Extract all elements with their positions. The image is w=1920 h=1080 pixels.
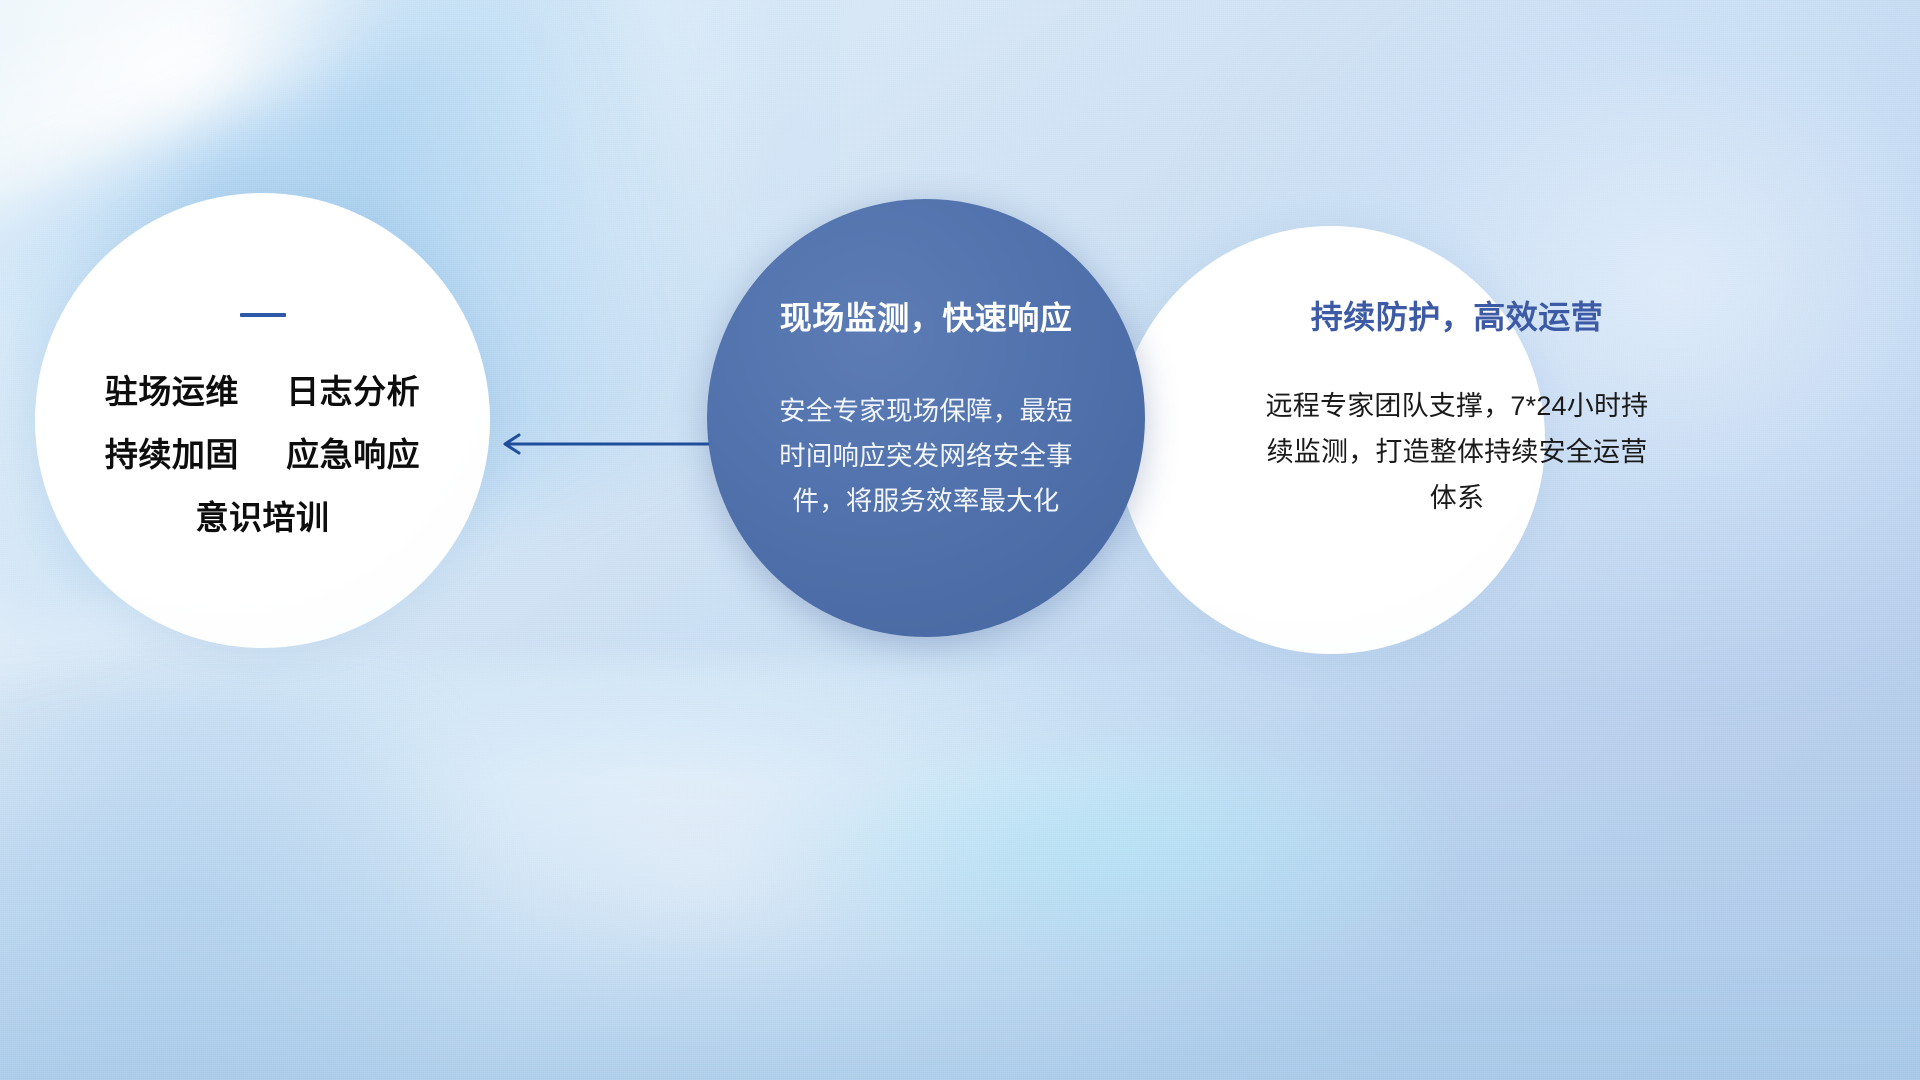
divider-dash-icon: [240, 313, 286, 317]
right-circle-title: 持续防护，高效运营: [1311, 292, 1604, 338]
middle-circle-title: 现场监测，快速响应: [780, 293, 1073, 339]
right-circle-body: 远程专家团队支撑，7*24小时持续监测，打造整体持续安全运营体系: [1257, 383, 1657, 521]
flow-arrow-left-icon: [495, 428, 710, 460]
keyword-onsite-ops: 驻场运维: [105, 373, 239, 410]
middle-circle-body: 安全专家现场保障，最短时间响应突发网络安全事件，将服务效率最大化: [771, 389, 1081, 524]
keyword-log-analysis: 日志分析: [286, 373, 420, 410]
keyword-emergency-response: 应急响应: [286, 436, 420, 473]
left-keyword-row-1: 驻场运维 日志分析: [105, 360, 420, 423]
left-keyword-row-3: 意识培训: [105, 486, 420, 549]
left-keyword-row-2: 持续加固 应急响应: [105, 423, 420, 486]
keyword-continuous-hardening: 持续加固: [105, 436, 239, 473]
middle-capability-circle: 现场监测，快速响应 安全专家现场保障，最短时间响应突发网络安全事件，将服务效率最…: [707, 199, 1145, 637]
left-keyword-list: 驻场运维 日志分析 持续加固 应急响应 意识培训: [105, 360, 420, 549]
right-capability-circle: 持续防护，高效运营 远程专家团队支撑，7*24小时持续监测，打造整体持续安全运营…: [1117, 226, 1545, 654]
left-capability-circle: 驻场运维 日志分析 持续加固 应急响应 意识培训: [35, 193, 490, 648]
keyword-awareness-training: 意识培训: [196, 499, 330, 536]
